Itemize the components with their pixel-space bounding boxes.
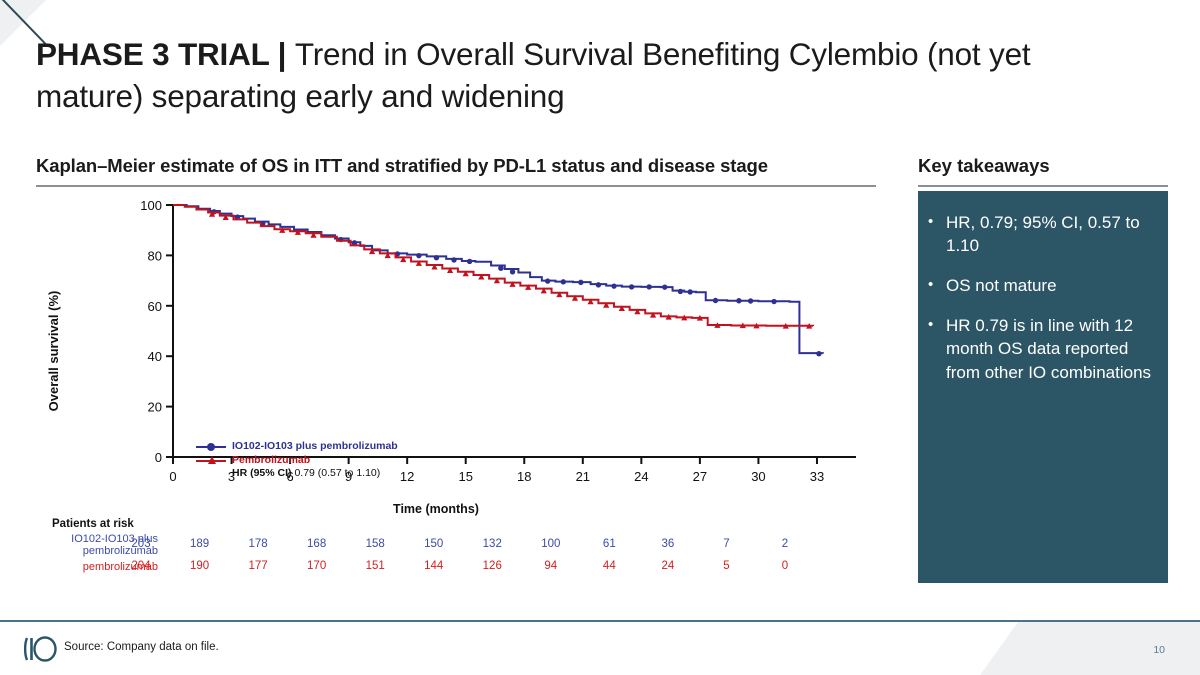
patients-at-risk-value: 5 bbox=[723, 560, 729, 572]
patients-at-risk-value: 2 bbox=[782, 538, 788, 550]
km-plot-svg: 02040608010003691215182124273033 Overall… bbox=[36, 191, 876, 521]
legend-marker-circle-icon bbox=[196, 440, 226, 452]
legend-label-red: Pembrolizumab bbox=[232, 454, 310, 466]
patients-at-risk-values: 203189178168158150132100613672 bbox=[162, 538, 876, 554]
key-takeaways-heading: Key takeaways bbox=[918, 155, 1168, 177]
bullet-icon: • bbox=[928, 314, 946, 383]
svg-text:15: 15 bbox=[458, 469, 472, 484]
footer-corner-shape bbox=[980, 622, 1200, 675]
key-takeaway-item: •OS not mature bbox=[928, 274, 1154, 297]
km-curves bbox=[173, 205, 823, 356]
chart-legend: IO102-IO103 plus pembrolizumab Pembroliz… bbox=[196, 439, 398, 479]
bullet-icon: • bbox=[928, 211, 946, 257]
legend-hr-label: HR (95% CI) bbox=[232, 467, 292, 479]
legend-hr-number: 0.79 (0.57 to 1.10) bbox=[294, 467, 380, 479]
patients-at-risk-value: 44 bbox=[603, 560, 616, 572]
legend-row-red: Pembrolizumab bbox=[196, 453, 398, 467]
svg-text:60: 60 bbox=[148, 299, 162, 314]
chart-heading-rule bbox=[36, 185, 876, 187]
footer-page-number: 10 bbox=[1153, 644, 1165, 656]
svg-text:0: 0 bbox=[169, 469, 176, 484]
slide: PHASE 3 TRIAL | Trend in Overall Surviva… bbox=[0, 0, 1200, 675]
svg-text:20: 20 bbox=[148, 400, 162, 415]
page-title: PHASE 3 TRIAL | Trend in Overall Surviva… bbox=[36, 34, 1126, 118]
key-takeaways-section: Key takeaways •HR, 0.79; 95% CI, 0.57 to… bbox=[918, 155, 1168, 583]
patients-at-risk-value: 190 bbox=[190, 560, 209, 572]
svg-text:21: 21 bbox=[576, 469, 590, 484]
svg-text:80: 80 bbox=[148, 248, 162, 263]
patients-at-risk-value: 151 bbox=[366, 560, 385, 572]
io-logo-icon bbox=[24, 635, 58, 663]
km-plot: 02040608010003691215182124273033 Overall… bbox=[36, 191, 876, 521]
patients-at-risk-value: 168 bbox=[307, 538, 326, 550]
patients-at-risk-value: 150 bbox=[424, 538, 443, 550]
patients-at-risk-value: 203 bbox=[131, 538, 150, 550]
patients-at-risk-value: 178 bbox=[248, 538, 267, 550]
patients-at-risk-value: 204 bbox=[131, 560, 150, 572]
patients-at-risk-value: 126 bbox=[483, 560, 502, 572]
svg-text:24: 24 bbox=[634, 469, 648, 484]
svg-text:12: 12 bbox=[400, 469, 414, 484]
key-takeaways-rule bbox=[918, 185, 1168, 187]
key-takeaway-text: HR 0.79 is in line with 12 month OS data… bbox=[946, 314, 1154, 383]
patients-at-risk-row: pembrolizumab204190177170151144126944424… bbox=[36, 560, 876, 576]
key-takeaway-item: •HR 0.79 is in line with 12 month OS dat… bbox=[928, 314, 1154, 383]
footer-source-text: Source: Company data on file. bbox=[64, 641, 219, 653]
patients-at-risk-value: 177 bbox=[248, 560, 267, 572]
patients-at-risk-value: 61 bbox=[603, 538, 616, 550]
key-takeaway-text: OS not mature bbox=[946, 274, 1154, 297]
svg-text:33: 33 bbox=[810, 469, 824, 484]
patients-at-risk-value: 36 bbox=[661, 538, 674, 550]
patients-at-risk-value: 0 bbox=[782, 560, 788, 572]
patients-at-risk-table: Patients at risk IO102-IO103 plus pembro… bbox=[36, 518, 876, 578]
key-takeaway-text: HR, 0.79; 95% CI, 0.57 to 1.10 bbox=[946, 211, 1154, 257]
svg-text:30: 30 bbox=[751, 469, 765, 484]
key-takeaway-item: •HR, 0.79; 95% CI, 0.57 to 1.10 bbox=[928, 211, 1154, 257]
patients-at-risk-value: 24 bbox=[661, 560, 674, 572]
svg-text:18: 18 bbox=[517, 469, 531, 484]
bullet-icon: • bbox=[928, 274, 946, 297]
patients-at-risk-value: 100 bbox=[541, 538, 560, 550]
svg-text:27: 27 bbox=[693, 469, 707, 484]
footer: Source: Company data on file. 10 bbox=[0, 622, 1200, 675]
chart-heading: Kaplan–Meier estimate of OS in ITT and s… bbox=[36, 155, 876, 177]
patients-at-risk-row: IO102-IO103 plus pembrolizumab2031891781… bbox=[36, 534, 876, 558]
svg-text:40: 40 bbox=[148, 349, 162, 364]
patients-at-risk-rows: IO102-IO103 plus pembrolizumab2031891781… bbox=[36, 534, 876, 576]
chart-section: Kaplan–Meier estimate of OS in ITT and s… bbox=[36, 155, 876, 521]
svg-text:0: 0 bbox=[155, 450, 162, 465]
patients-at-risk-value: 189 bbox=[190, 538, 209, 550]
legend-label-blue: IO102-IO103 plus pembrolizumab bbox=[232, 440, 398, 452]
legend-hazard-ratio: HR (95% CI) 0.79 (0.57 to 1.10) bbox=[196, 467, 398, 479]
patients-at-risk-value: 170 bbox=[307, 560, 326, 572]
title-block: PHASE 3 TRIAL | Trend in Overall Surviva… bbox=[36, 34, 1126, 118]
key-takeaways-panel: •HR, 0.79; 95% CI, 0.57 to 1.10•OS not m… bbox=[918, 191, 1168, 583]
patients-at-risk-value: 158 bbox=[366, 538, 385, 550]
patients-at-risk-value: 144 bbox=[424, 560, 443, 572]
patients-at-risk-value: 94 bbox=[544, 560, 557, 572]
patients-at-risk-value: 7 bbox=[723, 538, 729, 550]
key-takeaways-list: •HR, 0.79; 95% CI, 0.57 to 1.10•OS not m… bbox=[928, 211, 1154, 384]
svg-text:100: 100 bbox=[140, 198, 162, 213]
y-axis-title: Overall survival (%) bbox=[46, 291, 61, 412]
page-title-prefix: PHASE 3 TRIAL | bbox=[36, 36, 295, 72]
x-axis-title: Time (months) bbox=[393, 502, 479, 516]
patients-at-risk-title: Patients at risk bbox=[52, 518, 876, 530]
patients-at-risk-values: 20419017717015114412694442450 bbox=[162, 560, 876, 576]
patients-at-risk-value: 132 bbox=[483, 538, 502, 550]
legend-marker-triangle-icon bbox=[196, 454, 226, 466]
legend-row-blue: IO102-IO103 plus pembrolizumab bbox=[196, 439, 398, 453]
